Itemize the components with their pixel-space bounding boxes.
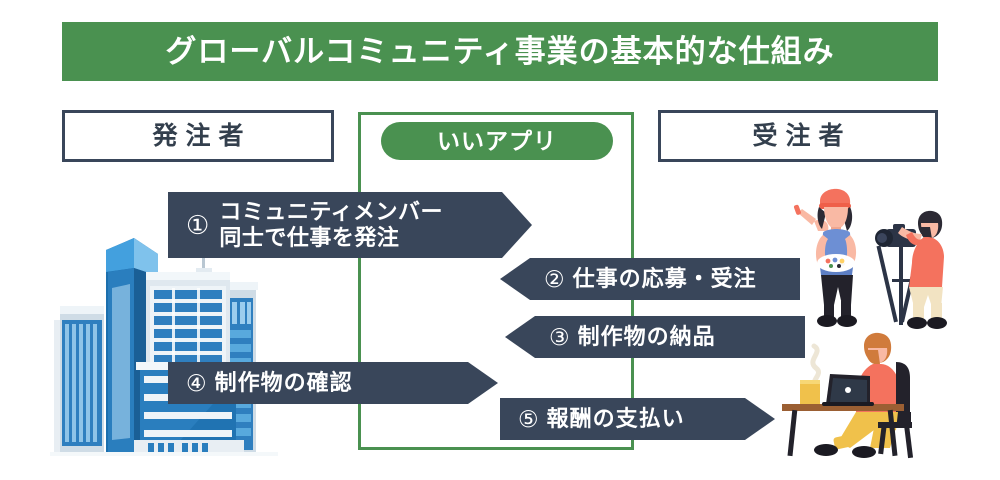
column-header-app: いいアプリ — [381, 122, 613, 160]
step-label-1: コミュニティメンバー 同士で仕事を発注 — [219, 199, 443, 251]
column-header-client-label: 発注者 — [144, 124, 251, 149]
step-number-5: ⑤ — [518, 408, 539, 431]
page-title-banner: グローバルコミュニティ事業の基本的な仕組み — [62, 22, 938, 81]
city-buildings-illustration — [50, 228, 278, 478]
step-arrow-4: ④ 制作物の確認 — [168, 362, 498, 404]
step-number-3: ③ — [549, 326, 570, 349]
step-label-5: 報酬の支払い — [547, 406, 685, 432]
column-header-contractor: 受注者 — [658, 110, 938, 162]
step-label-2: 仕事の応募・受注 — [573, 266, 757, 292]
step-arrow-3: ③ 制作物の納品 — [505, 316, 805, 358]
diagram-canvas: グローバルコミュニティ事業の基本的な仕組み 発注者 いいアプリ 受注者 ① コミ… — [0, 0, 1000, 480]
column-header-client: 発注者 — [62, 110, 334, 162]
step-arrow-5: ⑤ 報酬の支払い — [500, 398, 775, 440]
step-arrow-2: ② 仕事の応募・受注 — [500, 258, 800, 300]
step-label-3: 制作物の納品 — [578, 324, 716, 350]
column-header-contractor-label: 受注者 — [744, 124, 851, 149]
step-label-4: 制作物の確認 — [215, 370, 353, 396]
page-title: グローバルコミュニティ事業の基本的な仕組み — [165, 36, 834, 67]
column-header-app-label: いいアプリ — [437, 130, 557, 153]
step-arrow-1: ① コミュニティメンバー 同士で仕事を発注 — [168, 192, 532, 258]
step-number-2: ② — [544, 268, 565, 291]
step-number-1: ① — [186, 212, 209, 238]
step-number-4: ④ — [186, 372, 207, 395]
